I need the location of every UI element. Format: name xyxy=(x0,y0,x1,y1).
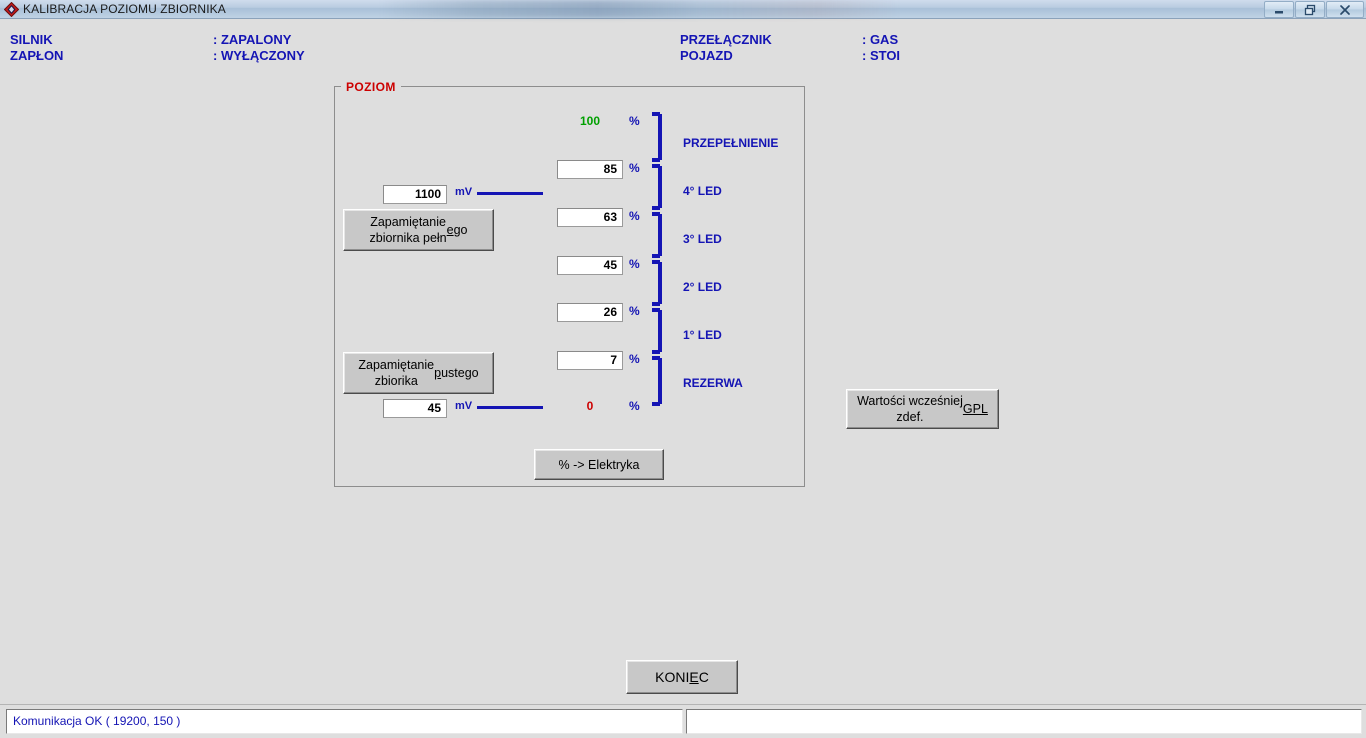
percent-symbol: % xyxy=(629,114,640,128)
window-title: KALIBRACJA POZIOMU ZBIORNIKA xyxy=(23,2,226,16)
status-field-communication[interactable]: Komunikacja OK ( 19200, 150 ) xyxy=(6,709,683,734)
range-label-led1: 1° LED xyxy=(683,328,722,342)
aero-glass-blur xyxy=(380,0,900,18)
percent-to-electronics-button[interactable]: % -> Elektryka xyxy=(534,449,664,480)
exit-button[interactable]: KONIEC xyxy=(626,660,738,694)
voltage-unit-full: mV xyxy=(455,186,472,198)
range-label-led4: 4° LED xyxy=(683,184,722,198)
threshold-input-overflow[interactable]: 85 xyxy=(557,160,623,179)
percent-symbol: % xyxy=(629,352,640,366)
close-icon[interactable] xyxy=(1326,1,1364,18)
range-bracket-graphic xyxy=(650,112,666,412)
vehicle-value: : STOI xyxy=(862,48,900,63)
vehicle-label: POJAZD xyxy=(680,48,733,63)
status-bar: Komunikacja OK ( 19200, 150 ) xyxy=(0,704,1366,738)
application-window: KALIBRACJA POZIOMU ZBIORNIKA SILNIK : ZA… xyxy=(0,0,1366,738)
threshold-input-led2[interactable]: 26 xyxy=(557,303,623,322)
scale-min-value: 0 xyxy=(557,399,623,413)
restore-icon[interactable] xyxy=(1295,1,1325,18)
app-diamond-icon xyxy=(4,2,19,17)
range-label-reserve: REZERWA xyxy=(683,376,743,390)
ignition-label: ZAPŁON xyxy=(10,48,63,63)
voltage-input-full[interactable]: 1100 xyxy=(383,185,447,204)
ignition-value: : WYŁĄCZONY xyxy=(213,48,305,63)
percent-symbol: % xyxy=(629,209,640,223)
title-bar[interactable]: KALIBRACJA POZIOMU ZBIORNIKA xyxy=(0,0,1366,19)
voltage-unit-empty: mV xyxy=(455,400,472,412)
range-label-led2: 2° LED xyxy=(683,280,722,294)
voltage-connector-line-full xyxy=(477,192,543,195)
scale-max-value: 100 xyxy=(557,114,623,128)
range-label-overflow: PRZEPEŁNIENIE xyxy=(683,136,778,150)
percent-symbol: % xyxy=(629,257,640,271)
threshold-input-led4[interactable]: 63 xyxy=(557,208,623,227)
engine-value: : ZAPALONY xyxy=(213,32,291,47)
threshold-input-led3[interactable]: 45 xyxy=(557,256,623,275)
engine-label: SILNIK xyxy=(10,32,53,47)
voltage-connector-line-empty xyxy=(477,406,543,409)
status-field-secondary[interactable] xyxy=(686,709,1362,734)
switch-label: PRZEŁĄCZNIK xyxy=(680,32,772,47)
percent-symbol: % xyxy=(629,304,640,318)
predefined-gpl-values-button[interactable]: Wartości wcześniej zdef. GPL xyxy=(846,389,999,429)
memorize-full-tank-button[interactable]: Zapamiętanie zbiornika pełnego xyxy=(343,209,494,251)
level-groupbox-title: POZIOM xyxy=(341,80,401,94)
percent-symbol: % xyxy=(629,161,640,175)
range-label-led3: 3° LED xyxy=(683,232,722,246)
voltage-input-empty[interactable]: 45 xyxy=(383,399,447,418)
memorize-empty-tank-button[interactable]: Zapamiętanie zbiorika pustego xyxy=(343,352,494,394)
switch-value: : GAS xyxy=(862,32,898,47)
threshold-input-led1[interactable]: 7 xyxy=(557,351,623,370)
minimize-icon[interactable] xyxy=(1264,1,1294,18)
percent-symbol: % xyxy=(629,399,640,413)
